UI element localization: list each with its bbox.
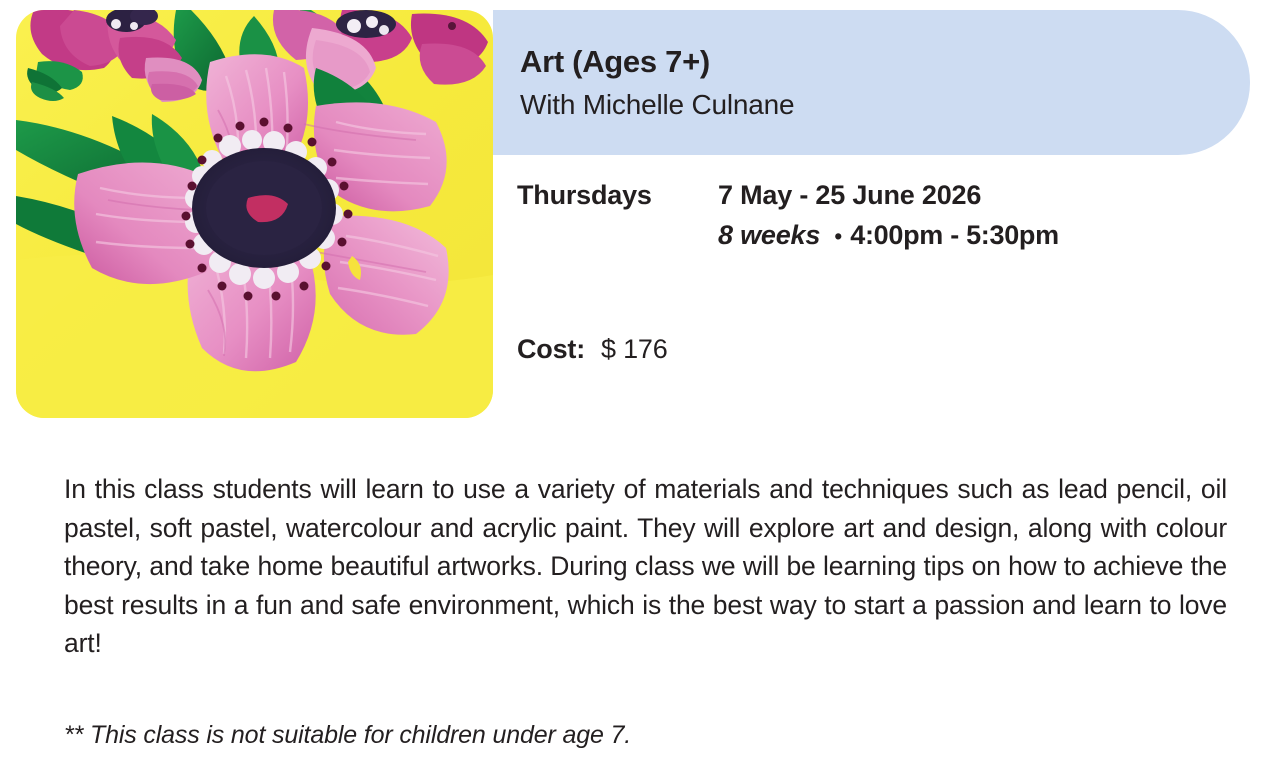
schedule-time-range: 4:00pm - 5:30pm xyxy=(850,220,1059,251)
schedule-row-secondary: 8 weeks • 4:00pm - 5:30pm xyxy=(517,220,1217,251)
class-instructor: With Michelle Culnane xyxy=(520,89,794,121)
description-note: ** This class is not suitable for childr… xyxy=(64,718,1227,752)
class-schedule: Thursdays 7 May - 25 June 2026 8 weeks •… xyxy=(517,180,1217,251)
schedule-duration: 8 weeks xyxy=(718,220,820,251)
section-divider: _______________________________________ xyxy=(517,270,1148,290)
class-title-banner: Art (Ages 7+) With Michelle Culnane xyxy=(493,10,1250,155)
bullet-separator-icon: • xyxy=(820,225,850,248)
schedule-day: Thursdays xyxy=(517,180,718,211)
flower-painting-illustration xyxy=(16,10,493,418)
class-title: Art (Ages 7+) xyxy=(520,44,710,80)
class-description: In this class students will learn to use… xyxy=(64,470,1227,663)
schedule-row-primary: Thursdays 7 May - 25 June 2026 xyxy=(517,180,1217,211)
schedule-date-range: 7 May - 25 June 2026 xyxy=(718,180,981,211)
cost-label: Cost: xyxy=(517,334,585,365)
description-paragraph: In this class students will learn to use… xyxy=(64,470,1227,663)
class-artwork-image xyxy=(16,10,493,418)
class-cost: Cost: $ 176 xyxy=(517,334,668,365)
cost-value: $ 176 xyxy=(585,334,668,365)
